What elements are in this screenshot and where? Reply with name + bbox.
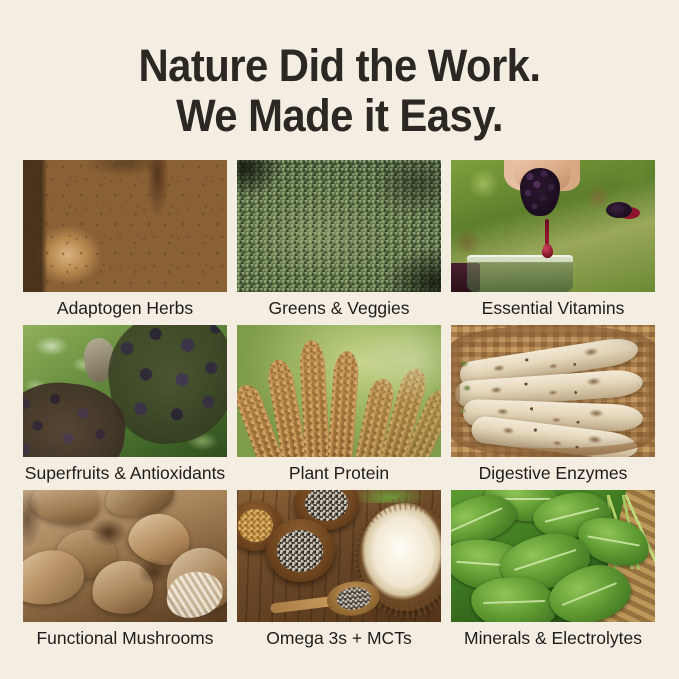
grid-item-functional-mushrooms[interactable]: Functional Mushrooms (23, 490, 227, 655)
grid-item-minerals-electrolytes[interactable]: Minerals & Electrolytes (451, 490, 655, 655)
infographic-page: Nature Did the Work. We Made it Easy. Ad… (0, 0, 679, 679)
functional-mushrooms-image (23, 490, 227, 622)
grid-item-label: Minerals & Electrolytes (451, 622, 655, 655)
omega-3s-mcts-image (237, 490, 441, 622)
greens-veggies-image (237, 160, 441, 292)
page-title-line-1: Nature Did the Work. (24, 41, 655, 91)
grid-item-greens-veggies[interactable]: Greens & Veggies (237, 160, 441, 325)
grid-item-label: Superfruits & Antioxidants (23, 457, 227, 490)
digestive-enzymes-image (451, 325, 655, 457)
grid-item-digestive-enzymes[interactable]: Digestive Enzymes (451, 325, 655, 490)
essential-vitamins-image (451, 160, 655, 292)
grid-item-omega-3s-mcts[interactable]: Omega 3s + MCTs (237, 490, 441, 655)
grid-item-label: Digestive Enzymes (451, 457, 655, 490)
grid-item-label: Functional Mushrooms (23, 622, 227, 655)
grid-item-plant-protein[interactable]: Plant Protein (237, 325, 441, 490)
grid-item-superfruits-antioxidants[interactable]: Superfruits & Antioxidants (23, 325, 227, 490)
grid-item-label: Plant Protein (237, 457, 441, 490)
page-title-line-2: We Made it Easy. (24, 91, 655, 141)
superfruits-antioxidants-image (23, 325, 227, 457)
grid-item-label: Greens & Veggies (237, 292, 441, 325)
grid-item-essential-vitamins[interactable]: Essential Vitamins (451, 160, 655, 325)
grid-item-label: Omega 3s + MCTs (237, 622, 441, 655)
ingredient-grid: Adaptogen Herbs Greens & Veggies (23, 160, 656, 655)
adaptogen-herbs-image (23, 160, 227, 292)
minerals-electrolytes-image (451, 490, 655, 622)
plant-protein-image (237, 325, 441, 457)
page-title: Nature Did the Work. We Made it Easy. (24, 0, 655, 141)
grid-item-adaptogen-herbs[interactable]: Adaptogen Herbs (23, 160, 227, 325)
grid-item-label: Adaptogen Herbs (23, 292, 227, 325)
grid-item-label: Essential Vitamins (451, 292, 655, 325)
